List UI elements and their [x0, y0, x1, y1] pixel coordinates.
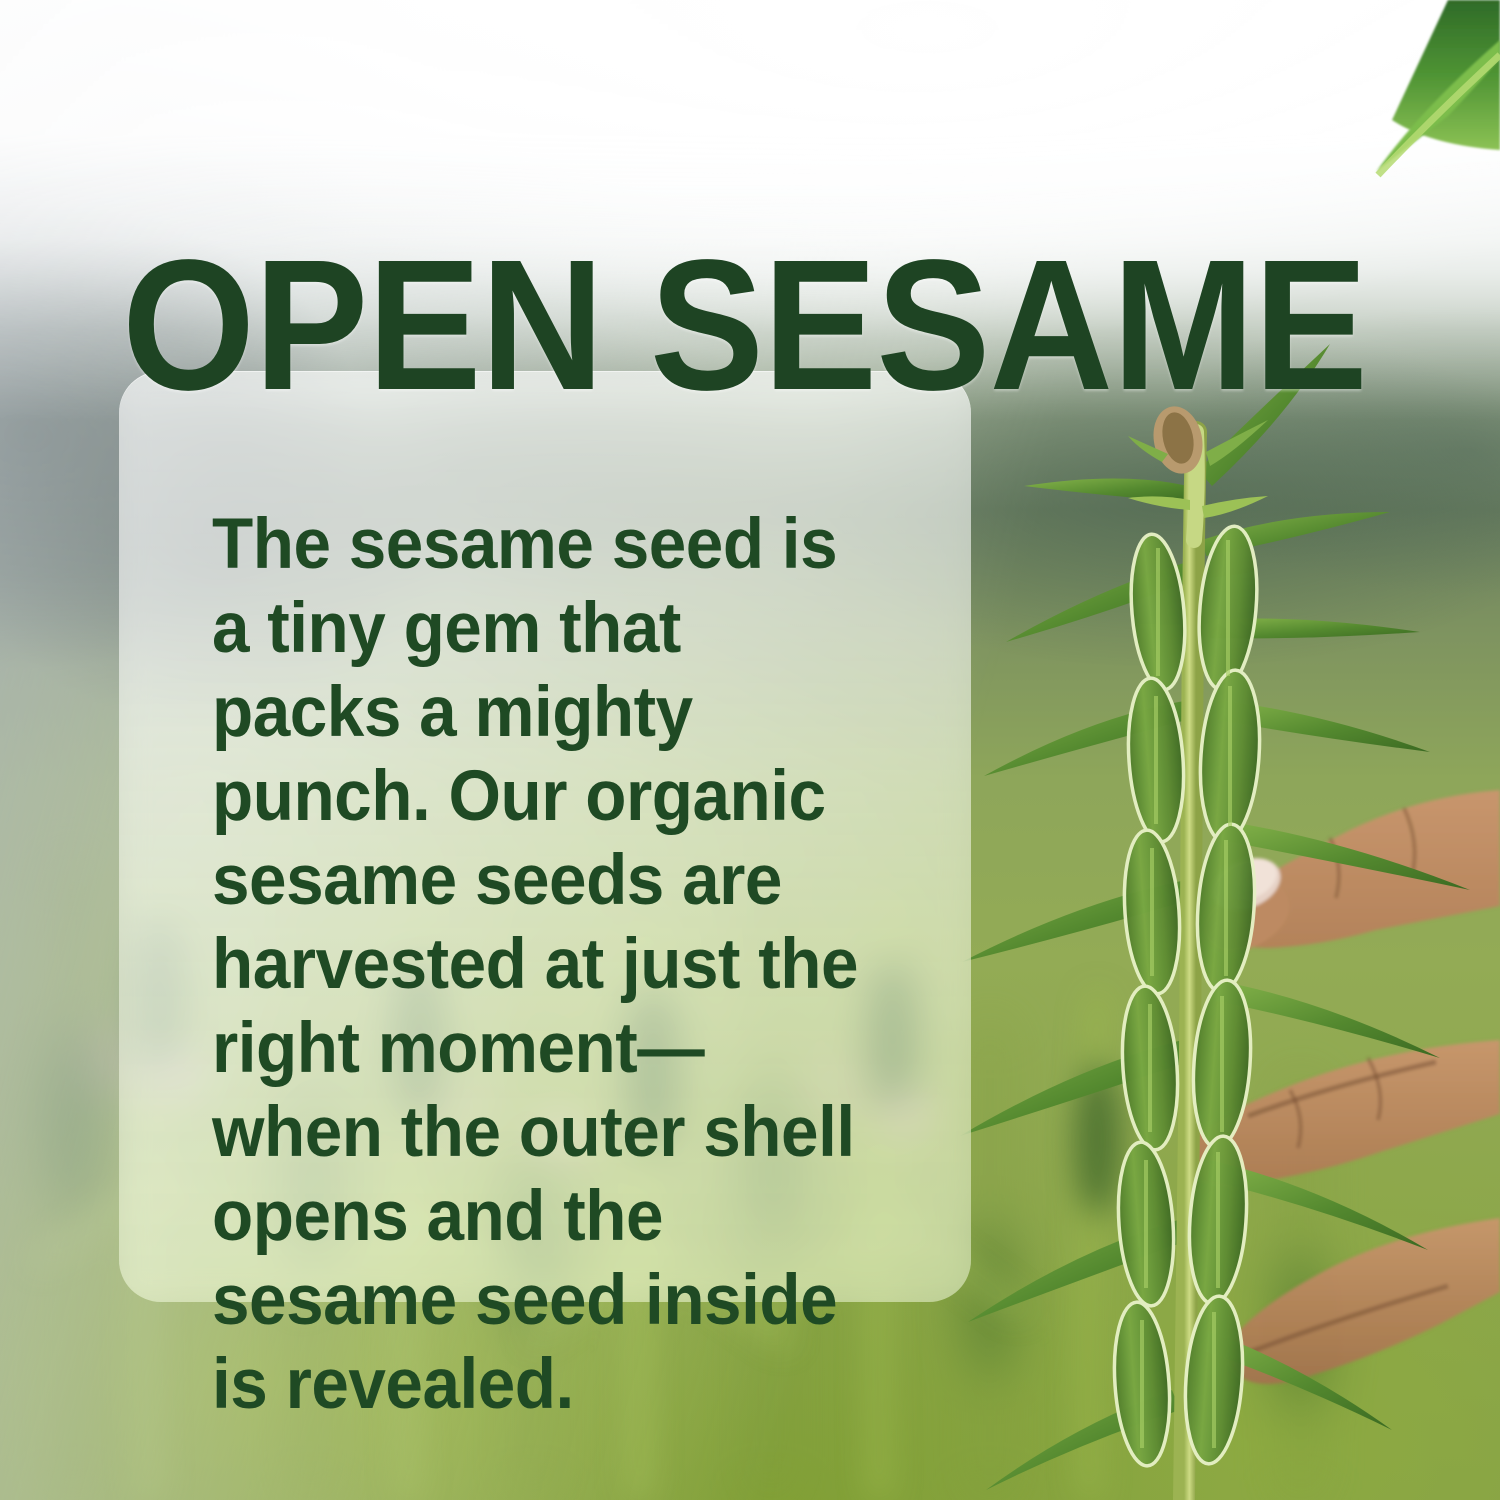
corner-leaf-top-right [1376, 0, 1500, 175]
page-title: OPEN SESAME [122, 233, 1367, 419]
body-paragraph: The sesame seed is a tiny gem that packs… [212, 503, 868, 1427]
infographic-canvas: OPEN SESAME The sesame seed is a tiny ge… [0, 0, 1500, 1500]
